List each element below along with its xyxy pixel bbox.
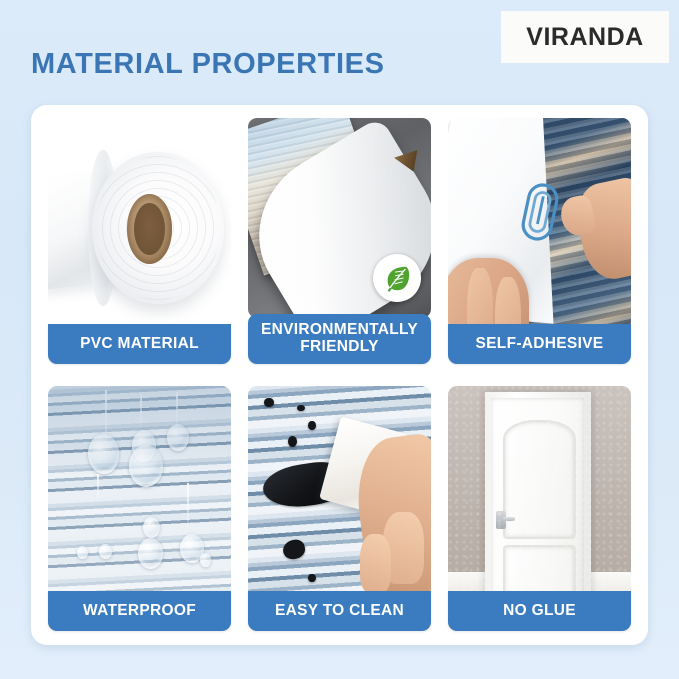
- feature-label-text: EASY TO CLEAN: [275, 603, 404, 619]
- brand-logo-box: VIRANDA: [501, 11, 669, 63]
- feature-label-text: SELF-ADHESIVE: [476, 336, 604, 352]
- eco-roll-illustration: [248, 118, 431, 318]
- feature-image-pvc-material: [48, 118, 231, 330]
- leaf-badge: [373, 254, 421, 302]
- feature-label-self-adhesive: SELF-ADHESIVE: [448, 324, 631, 364]
- feature-label-environmentally-friendly: ENVIRONMENTALLY FRIENDLY: [248, 314, 431, 364]
- features-card: PVC MATERIAL: [31, 105, 648, 645]
- feature-label-pvc-material: PVC MATERIAL: [48, 324, 231, 364]
- feature-tile-easy-to-clean[interactable]: EASY TO CLEAN: [248, 386, 431, 632]
- easy-to-clean-illustration: [248, 386, 431, 598]
- feature-image-environmentally-friendly: [248, 118, 431, 318]
- feature-tile-no-glue[interactable]: NO GLUE: [448, 386, 631, 632]
- feature-label-no-glue: NO GLUE: [448, 591, 631, 631]
- feature-label-text: ENVIRONMENTALLY: [261, 321, 418, 338]
- feature-tile-waterproof[interactable]: WATERPROOF: [48, 386, 231, 632]
- feature-label-waterproof: WATERPROOF: [48, 591, 231, 631]
- page-title: MATERIAL PROPERTIES: [31, 48, 385, 81]
- feature-image-no-glue: [448, 386, 631, 598]
- feature-tile-environmentally-friendly[interactable]: ENVIRONMENTALLY FRIENDLY: [248, 118, 431, 364]
- feature-label-text: NO GLUE: [503, 603, 576, 619]
- feature-label-text-line2: FRIENDLY: [261, 339, 418, 355]
- feature-label-easy-to-clean: EASY TO CLEAN: [248, 591, 431, 631]
- feature-tile-self-adhesive[interactable]: SELF-ADHESIVE: [448, 118, 631, 364]
- self-adhesive-illustration: [448, 118, 631, 330]
- brand-name: VIRANDA: [526, 23, 643, 52]
- feature-label-text: PVC MATERIAL: [80, 336, 199, 352]
- leaf-icon: [382, 263, 412, 293]
- promo-page: VIRANDA MATERIAL PROPERTIES PVC M: [0, 0, 679, 679]
- feature-tile-pvc-material[interactable]: PVC MATERIAL: [48, 118, 231, 364]
- door-illustration: [448, 386, 631, 598]
- feature-image-easy-to-clean: [248, 386, 431, 598]
- waterproof-illustration: [48, 386, 231, 598]
- features-grid: PVC MATERIAL: [48, 118, 631, 631]
- pvc-roll-illustration: [48, 118, 231, 330]
- feature-image-waterproof: [48, 386, 231, 598]
- feature-label-text: WATERPROOF: [83, 603, 196, 619]
- feature-image-self-adhesive: [448, 118, 631, 330]
